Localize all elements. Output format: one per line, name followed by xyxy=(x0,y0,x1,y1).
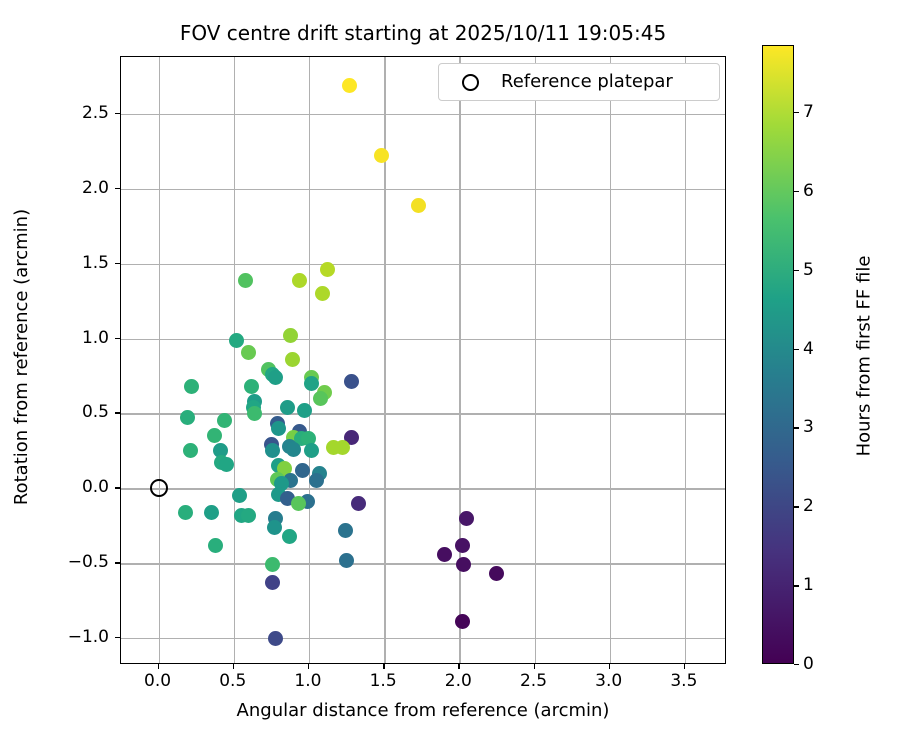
y-axis-tick-label: 1.0 xyxy=(33,328,109,348)
colorbar-tick xyxy=(794,427,799,428)
scatter-point xyxy=(374,148,389,163)
gridline-horizontal xyxy=(121,114,725,115)
page-title: FOV centre drift starting at 2025/10/11 … xyxy=(120,21,726,45)
scatter-point xyxy=(265,443,280,458)
gridline-horizontal xyxy=(121,563,725,564)
gridline-vertical xyxy=(234,57,235,663)
gridline-vertical xyxy=(159,57,160,663)
y-axis-tick xyxy=(115,113,120,114)
scatter-point xyxy=(455,614,470,629)
scatter-point xyxy=(238,273,253,288)
x-axis-tick-label: 2.5 xyxy=(499,671,569,691)
reference-platepar-marker xyxy=(150,479,168,497)
figure-canvas: FOV centre drift starting at 2025/10/11 … xyxy=(0,0,900,750)
y-axis-tick xyxy=(115,188,120,189)
scatter-point xyxy=(455,538,470,553)
gridline-vertical xyxy=(685,57,686,663)
colorbar-tick-label: 5 xyxy=(803,260,814,280)
x-axis-tick-label: 3.5 xyxy=(649,671,719,691)
scatter-point xyxy=(207,428,222,443)
scatter-point xyxy=(285,352,300,367)
x-axis-tick xyxy=(383,664,384,669)
gridline-vertical xyxy=(535,57,536,663)
gridline-horizontal xyxy=(121,339,725,340)
x-axis-tick xyxy=(609,664,610,669)
scatter-point xyxy=(241,508,256,523)
y-axis-tick-label: −0.5 xyxy=(33,552,109,572)
colorbar-tick-label: 2 xyxy=(803,496,814,516)
scatter-point xyxy=(437,547,452,562)
scatter-point xyxy=(338,523,353,538)
scatter-point xyxy=(267,520,282,535)
gridline-vertical xyxy=(309,57,310,663)
scatter-point xyxy=(180,410,195,425)
colorbar-label: Hours from first FF file xyxy=(854,47,876,666)
gridline-horizontal xyxy=(121,189,725,190)
legend-marker-cell xyxy=(439,74,501,91)
y-axis-tick-label: 0.5 xyxy=(33,402,109,422)
y-axis-tick xyxy=(115,487,120,488)
colorbar xyxy=(762,45,794,664)
scatter-point xyxy=(178,505,193,520)
scatter-point xyxy=(204,505,219,520)
x-axis-tick-label: 1.5 xyxy=(348,671,418,691)
scatter-point xyxy=(315,286,330,301)
colorbar-tick xyxy=(794,585,799,586)
scatter-point xyxy=(304,443,319,458)
x-axis-tick xyxy=(308,664,309,669)
scatter-point xyxy=(286,442,301,457)
plot-area xyxy=(120,56,726,664)
scatter-point xyxy=(244,379,259,394)
legend: Reference platepar xyxy=(438,63,720,101)
scatter-point xyxy=(241,345,256,360)
x-axis-tick-label: 0.0 xyxy=(123,671,193,691)
colorbar-tick xyxy=(794,270,799,271)
y-axis-tick xyxy=(115,412,120,413)
scatter-point xyxy=(268,631,283,646)
y-axis-tick xyxy=(115,263,120,264)
scatter-point xyxy=(339,553,354,568)
scatter-point xyxy=(411,198,426,213)
x-axis-tick-label: 1.0 xyxy=(273,671,343,691)
scatter-point xyxy=(184,379,199,394)
scatter-point xyxy=(219,457,234,472)
scatter-point xyxy=(489,566,504,581)
scatter-point xyxy=(268,370,283,385)
legend-item-label: Reference platepar xyxy=(501,71,673,93)
y-axis-tick-label: −1.0 xyxy=(33,627,109,647)
scatter-point xyxy=(229,333,244,348)
scatter-point xyxy=(342,78,357,93)
scatter-point xyxy=(291,496,306,511)
y-axis-tick xyxy=(115,562,120,563)
gridline-horizontal xyxy=(121,638,725,639)
scatter-point xyxy=(292,273,307,288)
scatter-point xyxy=(265,557,280,572)
x-axis-tick xyxy=(534,664,535,669)
scatter-point xyxy=(335,440,350,455)
colorbar-tick-label: 3 xyxy=(803,417,814,437)
colorbar-tick xyxy=(794,664,799,665)
y-axis-tick-label: 2.5 xyxy=(33,103,109,123)
y-axis-tick xyxy=(115,637,120,638)
x-axis-label: Angular distance from reference (arcmin) xyxy=(120,700,726,722)
gridline-horizontal xyxy=(121,413,725,414)
x-axis-tick xyxy=(158,664,159,669)
x-axis-tick-label: 0.5 xyxy=(198,671,268,691)
open-circle-icon xyxy=(462,74,479,91)
scatter-point xyxy=(271,421,286,436)
scatter-point xyxy=(456,557,471,572)
x-axis-tick xyxy=(684,664,685,669)
y-axis-tick-label: 2.0 xyxy=(33,178,109,198)
gridline-vertical xyxy=(610,57,611,663)
scatter-point xyxy=(313,391,328,406)
scatter-point xyxy=(208,538,223,553)
colorbar-tick-label: 6 xyxy=(803,181,814,201)
scatter-point xyxy=(217,413,232,428)
gridline-vertical xyxy=(459,57,460,663)
colorbar-tick-label: 1 xyxy=(803,575,814,595)
colorbar-tick xyxy=(794,191,799,192)
gridline-horizontal xyxy=(121,264,725,265)
x-axis-tick xyxy=(458,664,459,669)
scatter-point xyxy=(459,511,474,526)
gridline-horizontal xyxy=(121,488,725,489)
y-axis-label: Rotation from reference (arcmin) xyxy=(11,53,33,661)
y-axis-tick-label: 1.5 xyxy=(33,253,109,273)
y-axis-tick xyxy=(115,338,120,339)
scatter-point xyxy=(232,488,247,503)
x-axis-tick-label: 2.0 xyxy=(423,671,493,691)
scatter-point xyxy=(283,328,298,343)
scatter-point xyxy=(265,575,280,590)
scatter-point xyxy=(282,529,297,544)
scatter-point xyxy=(320,262,335,277)
colorbar-tick xyxy=(794,506,799,507)
scatter-point xyxy=(297,403,312,418)
scatter-point xyxy=(247,406,262,421)
y-axis-tick-label: 0.0 xyxy=(33,477,109,497)
scatter-point xyxy=(344,374,359,389)
scatter-point xyxy=(351,496,366,511)
x-axis-tick-label: 3.0 xyxy=(574,671,644,691)
scatter-point xyxy=(309,473,324,488)
scatter-point xyxy=(183,443,198,458)
colorbar-tick xyxy=(794,349,799,350)
x-axis-tick xyxy=(233,664,234,669)
colorbar-tick-label: 7 xyxy=(803,102,814,122)
colorbar-tick-label: 0 xyxy=(803,654,814,674)
colorbar-tick xyxy=(794,112,799,113)
colorbar-tick-label: 4 xyxy=(803,339,814,359)
